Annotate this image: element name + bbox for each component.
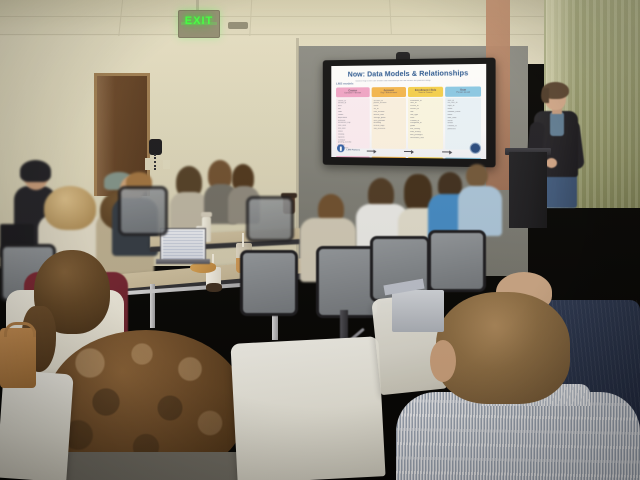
- brand-logo-label: LMS Platform: [347, 149, 361, 151]
- presenter-shirt: [550, 112, 564, 136]
- office-chair-back[interactable]: [118, 186, 168, 236]
- presentation-room-photo: EXIT Now: Data Models & Relationships LM…: [0, 0, 640, 480]
- leather-bag: [0, 328, 36, 388]
- slide-subtitle: LMS models: [336, 80, 353, 85]
- audience-person-head: [466, 164, 488, 188]
- phone-wall-plate: [145, 158, 153, 170]
- slide-column-account: Account Org / Sub-account account_id par…: [372, 87, 406, 149]
- arrow-icon: [367, 150, 376, 151]
- laptop-screen[interactable]: [160, 228, 206, 262]
- presenter-hand-right: [546, 158, 557, 168]
- audience-person-body: [458, 186, 502, 236]
- laptop-base[interactable]: [156, 259, 210, 264]
- column-subheader-label: Person record: [447, 91, 480, 94]
- bag-handle: [4, 322, 36, 337]
- display-screen: Now: Data Models & Relationships LMS mod…: [331, 64, 486, 159]
- bottle-cap: [201, 212, 212, 217]
- presenter-hair-side: [541, 88, 549, 103]
- arrow-icon: [404, 151, 413, 152]
- light-switch[interactable]: [163, 160, 170, 169]
- slide-blurb: Models map to the core entities and rela…: [355, 79, 481, 83]
- column-items: course_id section_id term title code cre…: [336, 98, 369, 148]
- slide-column-enrollment: Enrollment / Role User in Course enrollm…: [408, 86, 443, 149]
- list-item: associated_user: [410, 137, 441, 140]
- column-subheader-label: User in Course: [409, 92, 442, 95]
- drinking-straw: [242, 233, 244, 247]
- arrow-icon: [442, 151, 451, 152]
- office-chair-back[interactable]: [240, 250, 298, 316]
- ceiling-vent: [228, 22, 248, 29]
- phone-cord: [154, 154, 159, 170]
- slide-columns: Course Container / Section course_id sec…: [336, 86, 481, 149]
- sunglasses: [206, 283, 222, 292]
- slide: Now: Data Models & Relationships LMS mod…: [331, 64, 486, 159]
- audience-person-body: [36, 452, 258, 480]
- audience-person-hair: [20, 160, 51, 182]
- exit-sign: EXIT: [178, 10, 220, 38]
- office-chair-back[interactable]: [246, 196, 294, 242]
- audience-person-short-hair: [436, 292, 570, 404]
- ear: [430, 340, 456, 382]
- wall-display[interactable]: Now: Data Models & Relationships LMS mod…: [323, 58, 496, 168]
- column-subheader-label: Container / Section: [337, 92, 368, 95]
- audience-person-blonde-hair: [44, 186, 96, 230]
- white-chair-back[interactable]: [230, 336, 385, 480]
- slide-column-course: Course Container / Section course_id sec…: [336, 87, 369, 148]
- wall-phone-icon[interactable]: [149, 139, 162, 155]
- list-item: pronouns: [448, 128, 479, 131]
- presenter-legs: [545, 172, 577, 208]
- list-item: sub_accounts: [374, 128, 404, 131]
- column-items: enrollment_id user_id course_id section_…: [408, 98, 443, 149]
- column-items: account_id parent_account name sis_id ro…: [372, 98, 406, 149]
- paper-stack: [392, 290, 444, 332]
- slide-title: Now: Data Models & Relationships: [336, 69, 481, 78]
- slide-column-user: User Person record user_id sis_user_id l…: [446, 86, 482, 149]
- brand-logo-icon: [337, 144, 345, 152]
- exit-sign-label: EXIT: [179, 15, 219, 27]
- podium: [509, 152, 547, 228]
- column-subheader-label: Org / Sub-account: [373, 92, 405, 95]
- institution-seal-icon: [470, 143, 481, 154]
- office-chair-back[interactable]: [428, 230, 486, 292]
